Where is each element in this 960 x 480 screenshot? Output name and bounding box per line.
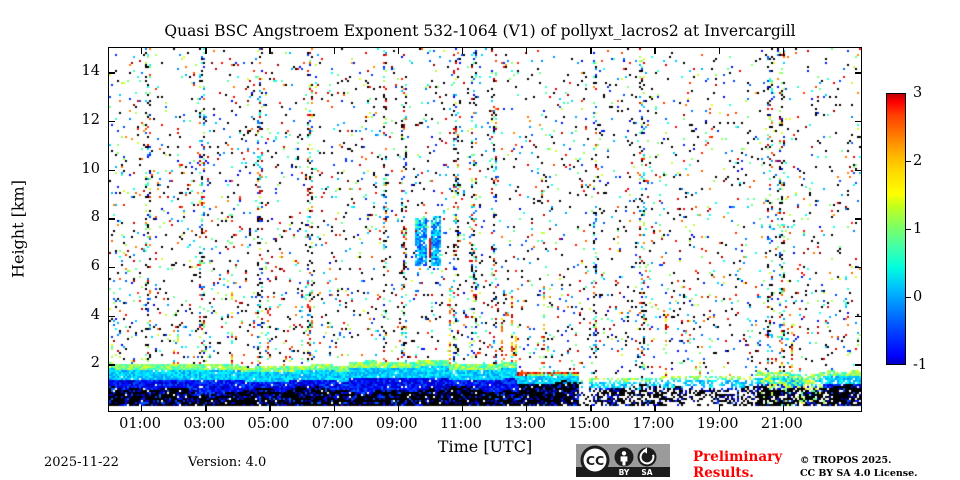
x-tick-label: 13:00 — [504, 416, 546, 432]
figure-version: Version: 4.0 — [188, 455, 266, 470]
y-tick-right — [855, 218, 861, 219]
x-tick-bottom — [462, 405, 463, 411]
y-tick-left — [109, 170, 115, 171]
y-tick-left — [109, 72, 115, 73]
colorbar-tick — [906, 161, 911, 162]
x-tick-bottom — [590, 405, 591, 411]
copyright-notice: © TROPOS 2025. CC BY SA 4.0 License. — [800, 455, 917, 480]
y-tick-left — [109, 316, 115, 317]
x-tick-top — [590, 48, 591, 54]
x-tick-bottom — [398, 405, 399, 411]
colorbar-tick — [906, 229, 911, 230]
x-tick-label: 15:00 — [568, 416, 610, 432]
figure-date: 2025-11-22 — [44, 455, 119, 470]
x-tick-top — [398, 48, 399, 54]
y-tick-left — [109, 267, 115, 268]
x-tick-bottom — [334, 405, 335, 411]
x-tick-label: 07:00 — [312, 416, 354, 432]
x-tick-label: 11:00 — [440, 416, 482, 432]
x-tick-top — [141, 48, 142, 54]
y-tick-right — [855, 121, 861, 122]
y-tick-label: 8 — [91, 209, 100, 225]
colorbar-tick-label: -1 — [913, 357, 927, 373]
preliminary-results-notice: Preliminary Results. — [693, 450, 782, 480]
colorbar-tick-label: 0 — [913, 289, 922, 305]
x-tick-top — [719, 48, 720, 54]
y-tick-label: 12 — [82, 112, 100, 128]
lidar-quicklook-figure: Quasi BSC Angstroem Exponent 532-1064 (V… — [0, 0, 960, 480]
copyright-line-2: CC BY SA 4.0 License. — [800, 468, 917, 480]
svg-text:BY: BY — [619, 468, 630, 477]
svg-text:SA: SA — [641, 468, 652, 477]
x-tick-top — [526, 48, 527, 54]
y-tick-right — [855, 267, 861, 268]
svg-text:CC: CC — [586, 453, 604, 468]
x-tick-label: 21:00 — [761, 416, 803, 432]
x-tick-top — [269, 48, 270, 54]
y-tick-right — [855, 364, 861, 365]
x-tick-top — [654, 48, 655, 54]
y-tick-right — [855, 72, 861, 73]
x-tick-top — [205, 48, 206, 54]
colorbar-tick — [906, 297, 911, 298]
colorbar-tick-label: 1 — [913, 221, 922, 237]
y-tick-left — [109, 364, 115, 365]
y-tick-left — [109, 218, 115, 219]
y-tick-label: 2 — [91, 355, 100, 371]
x-tick-label: 09:00 — [376, 416, 418, 432]
page-title: Quasi BSC Angstroem Exponent 532-1064 (V… — [0, 22, 960, 40]
y-tick-label: 10 — [82, 161, 100, 177]
x-tick-label: 03:00 — [183, 416, 225, 432]
preliminary-line-2: Results. — [693, 466, 782, 480]
y-tick-right — [855, 170, 861, 171]
y-axis-title: Height [km] — [9, 180, 28, 278]
y-tick-left — [109, 121, 115, 122]
x-tick-label: 01:00 — [119, 416, 161, 432]
x-tick-bottom — [719, 405, 720, 411]
x-tick-label: 17:00 — [633, 416, 675, 432]
preliminary-line-1: Preliminary — [693, 450, 782, 466]
x-tick-bottom — [654, 405, 655, 411]
x-tick-bottom — [783, 405, 784, 411]
heatmap-canvas — [109, 48, 862, 412]
y-tick-label: 14 — [82, 63, 100, 79]
x-tick-label: 19:00 — [697, 416, 739, 432]
y-tick-label: 4 — [91, 307, 100, 323]
colorbar-tick-label: 2 — [913, 153, 922, 169]
x-tick-bottom — [269, 405, 270, 411]
x-tick-top — [783, 48, 784, 54]
colorbar-gradient — [886, 93, 906, 365]
copyright-line-1: © TROPOS 2025. — [800, 455, 917, 468]
creative-commons-badge-icon: CC BY SA — [576, 444, 670, 477]
colorbar — [886, 93, 906, 365]
plot-axes-area — [108, 47, 862, 412]
x-tick-top — [462, 48, 463, 54]
x-tick-top — [334, 48, 335, 54]
y-tick-right — [855, 316, 861, 317]
y-tick-label: 6 — [91, 258, 100, 274]
x-tick-bottom — [141, 405, 142, 411]
x-tick-label: 05:00 — [248, 416, 290, 432]
colorbar-tick-label: 3 — [913, 85, 922, 101]
x-tick-bottom — [205, 405, 206, 411]
x-tick-bottom — [526, 405, 527, 411]
